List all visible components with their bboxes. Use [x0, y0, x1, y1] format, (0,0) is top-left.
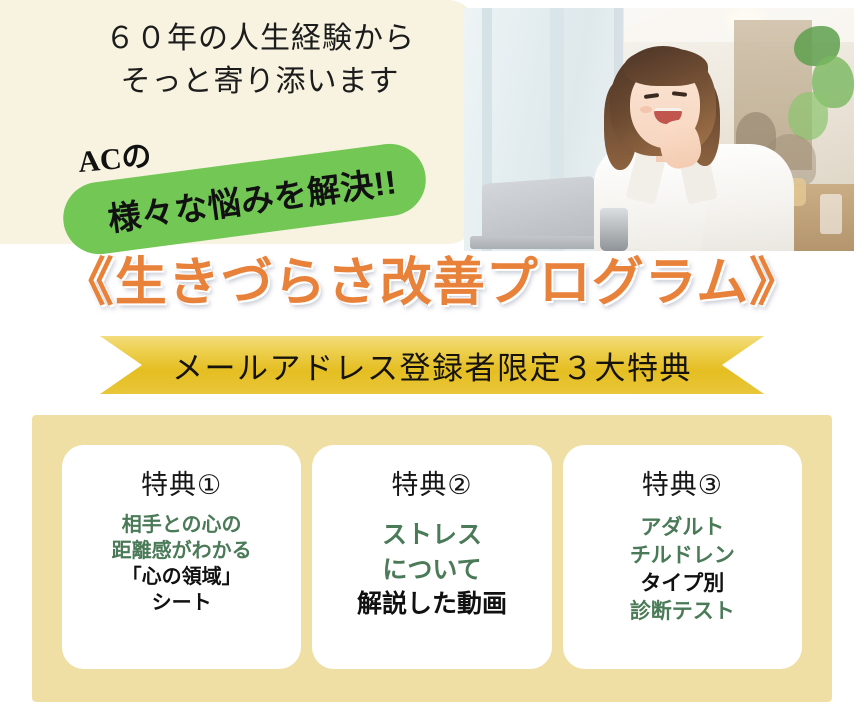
benefits-card-list: 特典① 相手との心の 距離感がわかる 「心の領域」 シート 特典② ストレス に… — [62, 445, 802, 669]
benefit-3-line-2: チルドレン — [630, 542, 735, 570]
benefit-1-line-1: 相手との心の — [112, 512, 252, 538]
photo-woman-bangs — [624, 48, 708, 86]
benefit-3-lines: アダルト チルドレン タイプ別 診断テスト — [630, 514, 735, 627]
benefit-1-line-3: 「心の領域」 — [112, 564, 252, 590]
hero-section: ６０年の人生経験から そっと寄り添います ACの 様々な悩みを解決!! — [0, 0, 864, 258]
benefit-3-title: 特典③ — [642, 463, 723, 502]
hero-headline: ６０年の人生経験から そっと寄り添います — [60, 18, 460, 103]
photo-laptop-base — [470, 236, 610, 249]
headline-line-1: ６０年の人生経験から — [105, 22, 415, 55]
ribbon-banner: メールアドレス登録者限定３大特典 — [0, 336, 864, 398]
benefit-2-line-2: について — [357, 553, 507, 588]
photo-glass — [820, 194, 842, 234]
benefit-2-title: 特典② — [391, 463, 472, 502]
hero-photo — [464, 8, 854, 251]
benefit-card-2[interactable]: 特典② ストレス について 解説した動画 — [312, 445, 551, 669]
landing-page: ６０年の人生経験から そっと寄り添います ACの 様々な悩みを解決!! — [0, 0, 864, 712]
photo-cup — [600, 208, 628, 251]
benefit-2-line-3: 解説した動画 — [357, 587, 507, 622]
benefit-2-line-1: ストレス — [357, 518, 507, 553]
benefit-1-line-2: 距離感がわかる — [112, 538, 252, 564]
benefit-card-3[interactable]: 特典③ アダルト チルドレン タイプ別 診断テスト — [563, 445, 802, 669]
photo-plant — [788, 92, 828, 140]
benefits-panel: 特典① 相手との心の 距離感がわかる 「心の領域」 シート 特典② ストレス に… — [32, 415, 832, 702]
ribbon-shape: メールアドレス登録者限定３大特典 — [100, 336, 764, 394]
photo-woman-cheek — [640, 106, 652, 113]
benefit-1-title: 特典① — [141, 463, 222, 502]
benefit-3-line-4: 診断テスト — [630, 598, 735, 626]
page-title: 《生きづらさ改善プログラム》 — [0, 254, 864, 314]
benefit-1-line-4: シート — [112, 590, 252, 616]
benefit-2-lines: ストレス について 解説した動画 — [357, 518, 507, 622]
benefit-1-lines: 相手との心の 距離感がわかる 「心の領域」 シート — [112, 512, 252, 616]
benefit-card-1[interactable]: 特典① 相手との心の 距離感がわかる 「心の領域」 シート — [62, 445, 301, 669]
benefit-3-line-1: アダルト — [630, 514, 735, 542]
headline-line-2: そっと寄り添います — [60, 61, 460, 104]
ribbon-label: メールアドレス登録者限定３大特典 — [172, 343, 692, 388]
benefit-3-line-3: タイプ別 — [630, 570, 735, 598]
